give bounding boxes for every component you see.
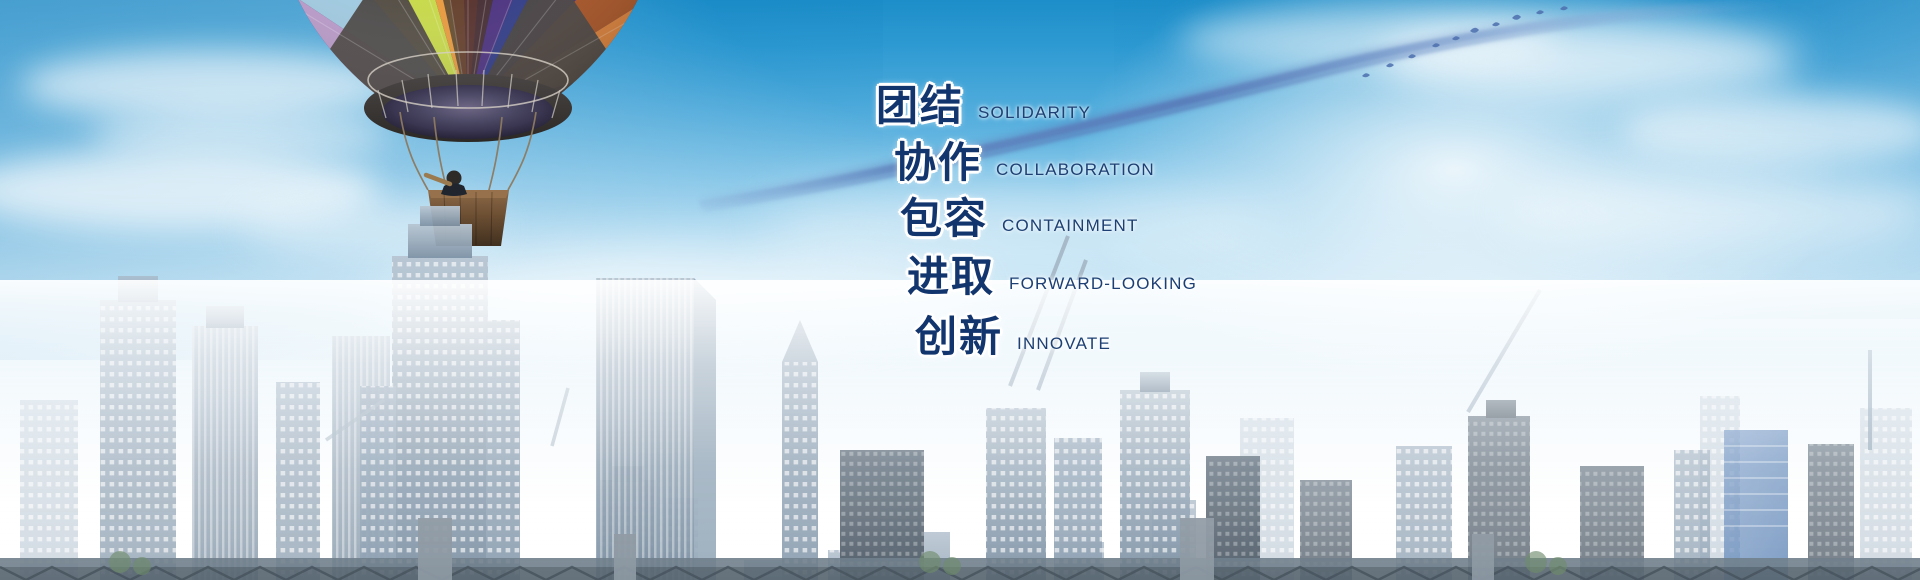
slogan-en-text: INNOVATE xyxy=(1017,334,1111,354)
slogan-cn-text: 创新 xyxy=(915,303,1003,364)
slogan-forward-looking: 进取 FORWARD-LOOKING xyxy=(907,243,1197,304)
slogan-collaboration: 协作 COLLABORATION xyxy=(894,129,1155,190)
slogan-solidarity: 团结 SOLIDARITY xyxy=(876,72,1091,133)
hero-banner: 团结 SOLIDARITY 协作 COLLABORATION 包容 CONTAI… xyxy=(0,0,1920,580)
slogan-cn-text: 团结 xyxy=(876,72,964,133)
slogan-en-text: CONTAINMENT xyxy=(1002,216,1139,236)
slogan-containment: 包容 CONTAINMENT xyxy=(900,185,1139,246)
slogan-group: 团结 SOLIDARITY 协作 COLLABORATION 包容 CONTAI… xyxy=(0,0,1920,580)
slogan-cn-text: 进取 xyxy=(907,243,995,304)
slogan-en-text: COLLABORATION xyxy=(996,160,1155,180)
slogan-cn-text: 协作 xyxy=(894,129,982,190)
slogan-en-text: SOLIDARITY xyxy=(978,103,1091,123)
slogan-en-text: FORWARD-LOOKING xyxy=(1009,274,1197,294)
slogan-cn-text: 包容 xyxy=(900,185,988,246)
slogan-innovate: 创新 INNOVATE xyxy=(915,303,1111,364)
